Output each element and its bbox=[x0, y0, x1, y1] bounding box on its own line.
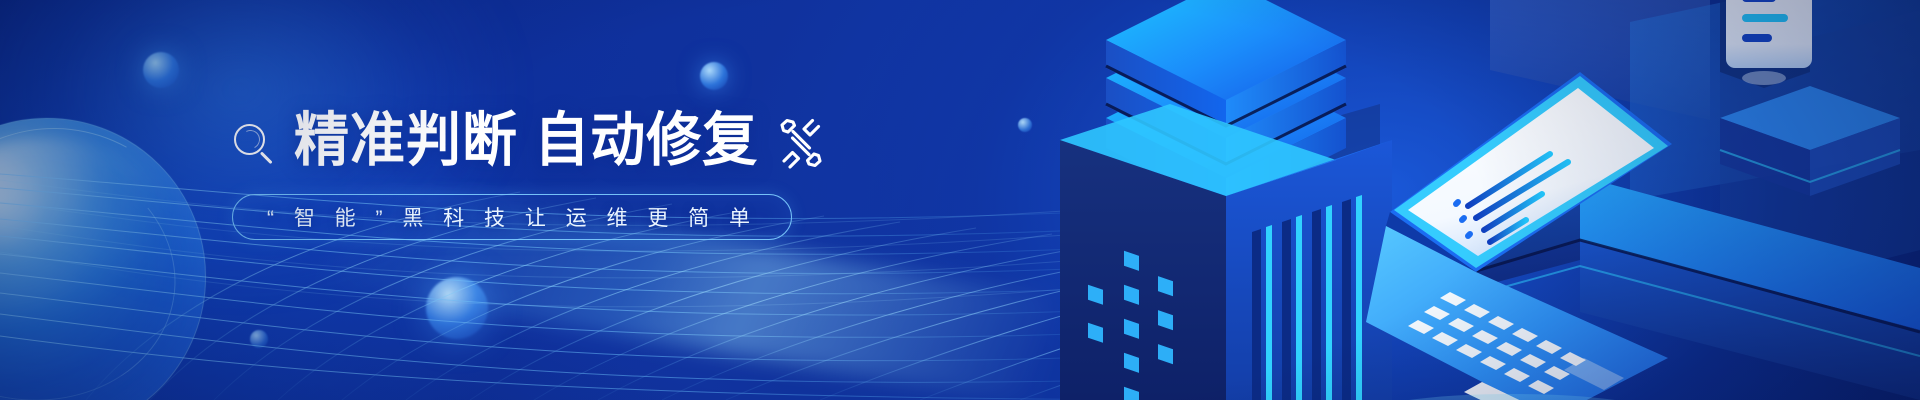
floating-orb bbox=[700, 62, 728, 90]
wrench-icon bbox=[774, 116, 828, 170]
banner-copy: 精准判断 自动修复 “ 智 能 ” 黑 科 技 让 运 维 更 简 单 bbox=[232, 104, 892, 240]
floating-orb bbox=[250, 330, 268, 348]
subtitle-row: “ 智 能 ” 黑 科 技 让 运 维 更 简 单 bbox=[232, 194, 892, 240]
subtitle-pill: “ 智 能 ” 黑 科 技 让 运 维 更 简 单 bbox=[232, 194, 792, 240]
floating-orb bbox=[426, 277, 488, 339]
page-title: 精准判断 自动修复 bbox=[294, 111, 758, 169]
document-card bbox=[1720, 0, 1812, 88]
hero-banner: 精准判断 自动修复 “ 智 能 ” 黑 科 技 让 运 维 更 简 单 bbox=[0, 0, 1920, 400]
isometric-datacenter-illustration bbox=[1020, 0, 1920, 400]
floating-orb bbox=[143, 52, 179, 88]
magnifier-icon bbox=[232, 122, 278, 168]
headline-row: 精准判断 自动修复 bbox=[232, 104, 892, 176]
